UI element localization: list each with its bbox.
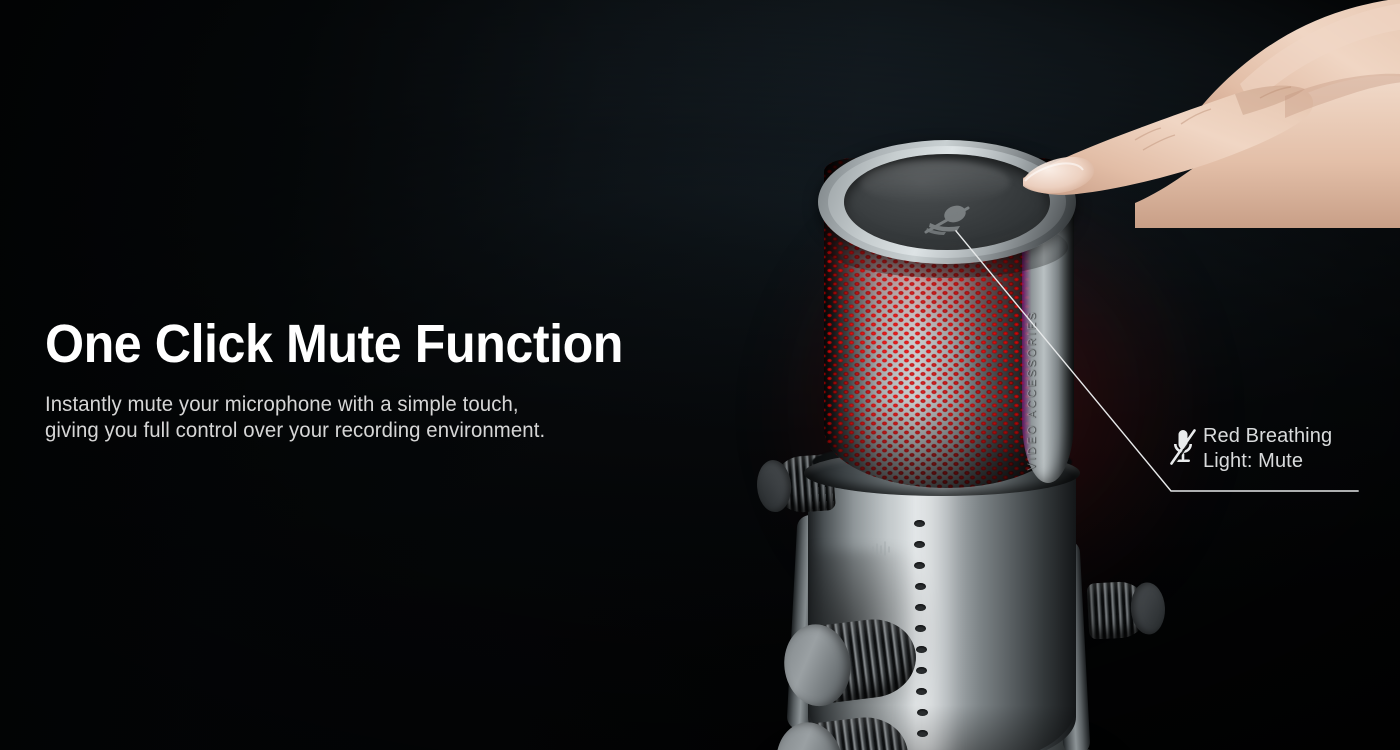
subtitle: Instantly mute your microphone with a si… (45, 392, 743, 444)
hand-pressing-mute (985, 0, 1400, 228)
body-engraving-text: VIDEO ACCESSORIES (1026, 239, 1052, 470)
callout-line-1: Red Breathing (1203, 424, 1332, 449)
callout-red-breathing-light: Red Breathing Light: Mute (1168, 424, 1332, 474)
microphone-muted-icon (922, 202, 978, 240)
copy-block: One Click Mute Function Instantly mute y… (45, 316, 765, 444)
page-title: One Click Mute Function (45, 316, 715, 372)
subtitle-line-1: Instantly mute your microphone with a si… (45, 392, 743, 418)
wave-etching-icon (870, 538, 896, 560)
led-indicator-strip (913, 520, 929, 750)
promo-banner: One Click Mute Function Instantly mute y… (0, 0, 1400, 750)
subtitle-line-2: giving you full control over your record… (45, 418, 743, 444)
lower-body-highlight (898, 470, 960, 750)
callout-text: Red Breathing Light: Mute (1203, 424, 1332, 474)
thumb-screw-right[interactable] (1087, 580, 1150, 639)
callout-line-2: Light: Mute (1203, 449, 1332, 474)
microphone-muted-icon (1168, 426, 1198, 468)
